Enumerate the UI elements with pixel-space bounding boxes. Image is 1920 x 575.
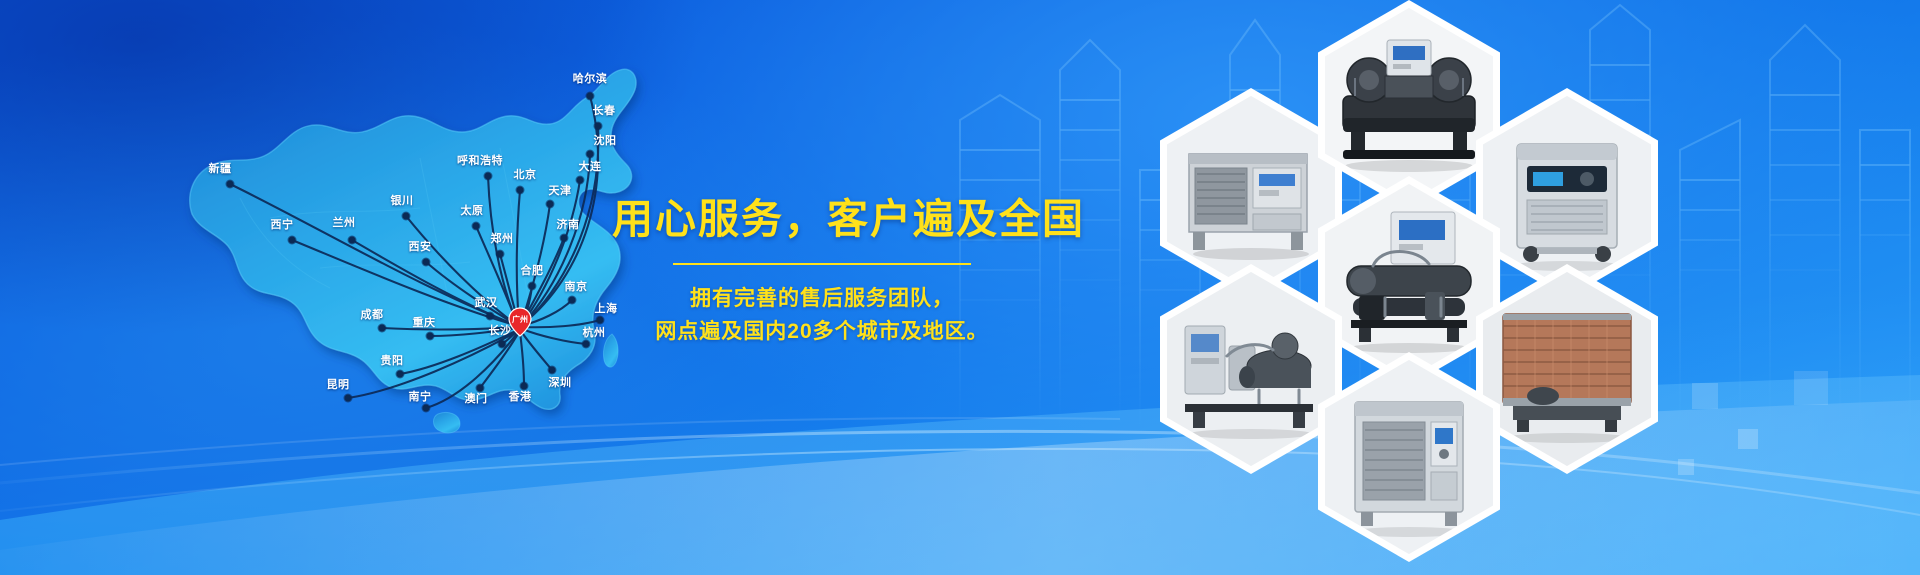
city-dot[interactable] [587,151,594,158]
city-dot[interactable] [547,201,554,208]
city-dot[interactable] [427,333,434,340]
city-label: 香港 [509,388,532,404]
city-dot[interactable] [517,187,524,194]
city-dot[interactable] [473,223,480,230]
guangzhou-hub-marker[interactable]: 广州 [509,308,531,336]
city-dot[interactable] [227,181,234,188]
city-dot[interactable] [497,251,504,258]
city-dot[interactable] [289,237,296,244]
product-hex-air-cooled-condenser-unit[interactable] [1476,264,1658,474]
banner-subtitle-line-2: 网点遍及国内20多个城市及地区。 [612,316,1032,349]
city-label: 长春 [593,102,616,118]
city-label: 贵阳 [381,352,404,368]
city-label: 重庆 [413,314,436,330]
city-dot[interactable] [423,405,430,412]
city-label: 郑州 [491,230,514,246]
city-label: 西安 [409,238,432,254]
city-label: 武汉 [475,294,498,310]
city-label: 成都 [361,306,384,322]
city-dot[interactable] [423,259,430,266]
city-dot[interactable] [379,325,386,332]
city-dot[interactable] [549,367,556,374]
city-label: 银川 [391,192,414,208]
china-map: 哈尔滨长春沈阳大连呼和浩特北京天津新疆银川太原西宁兰州西安郑州济南合肥南京上海杭… [120,18,680,438]
city-dot[interactable] [577,177,584,184]
city-label: 兰州 [333,214,356,230]
city-label: 杭州 [583,324,606,340]
banner-headline: 用心服务，客户遍及全国 [612,196,1032,243]
city-dot[interactable] [485,173,492,180]
city-label: 呼和浩特 [457,152,503,168]
city-dot[interactable] [569,297,576,304]
city-label: 北京 [514,166,537,182]
city-dot[interactable] [349,237,356,244]
city-label: 济南 [557,216,580,232]
city-dot[interactable] [345,395,352,402]
city-dot[interactable] [597,317,604,324]
product-hex-open-type-chiller-skid[interactable] [1160,264,1342,474]
city-label: 沈阳 [594,132,617,148]
city-dot[interactable] [487,313,494,320]
city-dot[interactable] [529,283,536,290]
banner-subtitle-line-1: 拥有完善的售后服务团队， [612,283,1032,316]
city-label: 深圳 [549,374,572,390]
city-label: 西宁 [271,216,294,232]
city-dot[interactable] [561,235,568,242]
city-label: 澳门 [465,390,488,406]
banner-text-block: 用心服务，客户遍及全国 拥有完善的售后服务团队， 网点遍及国内20多个城市及地区… [612,196,1032,348]
product-hexagon-gallery [1160,0,1800,575]
city-dot[interactable] [397,371,404,378]
hub-label: 广州 [512,314,528,324]
city-label: 昆明 [327,376,350,392]
city-dot[interactable] [587,93,594,100]
service-network-banner: 哈尔滨长春沈阳大连呼和浩特北京天津新疆银川太原西宁兰州西安郑州济南合肥南京上海杭… [0,0,1920,575]
city-label: 新疆 [209,160,232,176]
city-marker-layer: 哈尔滨长春沈阳大连呼和浩特北京天津新疆银川太原西宁兰州西安郑州济南合肥南京上海杭… [120,18,680,438]
city-dot[interactable] [499,341,506,348]
city-label: 大连 [579,158,602,174]
city-label: 合肥 [521,262,544,278]
product-hex-cabinet-industrial-chiller[interactable] [1318,352,1500,562]
city-dot[interactable] [583,341,590,348]
city-label: 天津 [549,182,572,198]
city-dot[interactable] [595,123,602,130]
headline-divider-rule [673,263,971,265]
city-label: 太原 [461,202,484,218]
city-label: 南宁 [409,388,432,404]
city-dot[interactable] [403,213,410,220]
city-label: 哈尔滨 [573,70,608,86]
city-label: 南京 [565,278,588,294]
